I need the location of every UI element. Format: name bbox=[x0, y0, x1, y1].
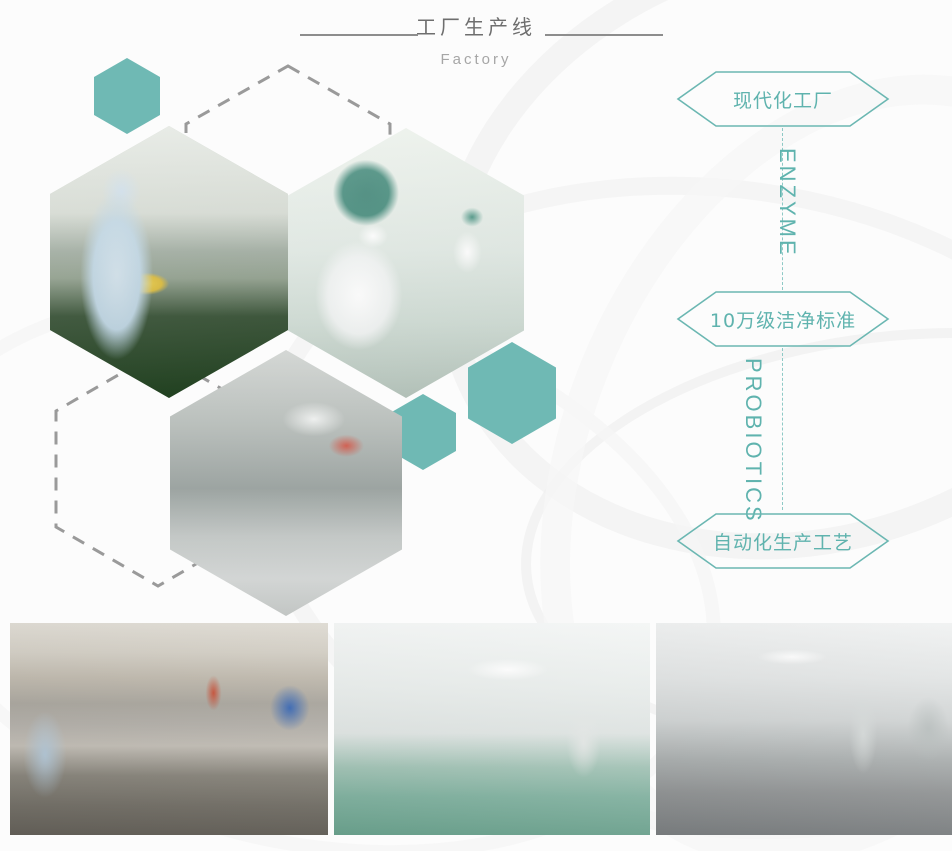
badge-modern-factory[interactable]: 现代化工厂 bbox=[676, 70, 890, 128]
connector-line-probiotics bbox=[782, 348, 783, 510]
badge-label: 现代化工厂 bbox=[676, 70, 890, 128]
badge-cleanliness-standard[interactable]: 10万级洁净标准 bbox=[676, 290, 890, 348]
gallery-photo-cleanroom-packaging-area bbox=[334, 623, 650, 835]
badge-automated-process[interactable]: 自动化生产工艺 bbox=[676, 512, 890, 570]
header-rule-left bbox=[300, 34, 418, 36]
badge-label: 自动化生产工艺 bbox=[676, 512, 890, 570]
vertical-label-enzyme: ENZYME bbox=[774, 148, 800, 258]
badge-label: 10万级洁净标准 bbox=[676, 290, 890, 348]
vertical-label-probiotics: PROBIOTICS bbox=[740, 358, 766, 524]
gallery-photo-filling-machines-row bbox=[10, 623, 328, 835]
accent-hex-mid-large bbox=[468, 342, 556, 444]
page-title: 工厂生产线 bbox=[0, 12, 952, 42]
header-rule-right bbox=[545, 34, 663, 36]
gallery-photo-stainless-tanks-room bbox=[656, 623, 952, 835]
factory-page: 工厂生产线 Factory 现代化工厂 ENZYME 10万级洁净标准 PROB… bbox=[0, 0, 952, 851]
section-header: 工厂生产线 Factory bbox=[0, 12, 952, 73]
